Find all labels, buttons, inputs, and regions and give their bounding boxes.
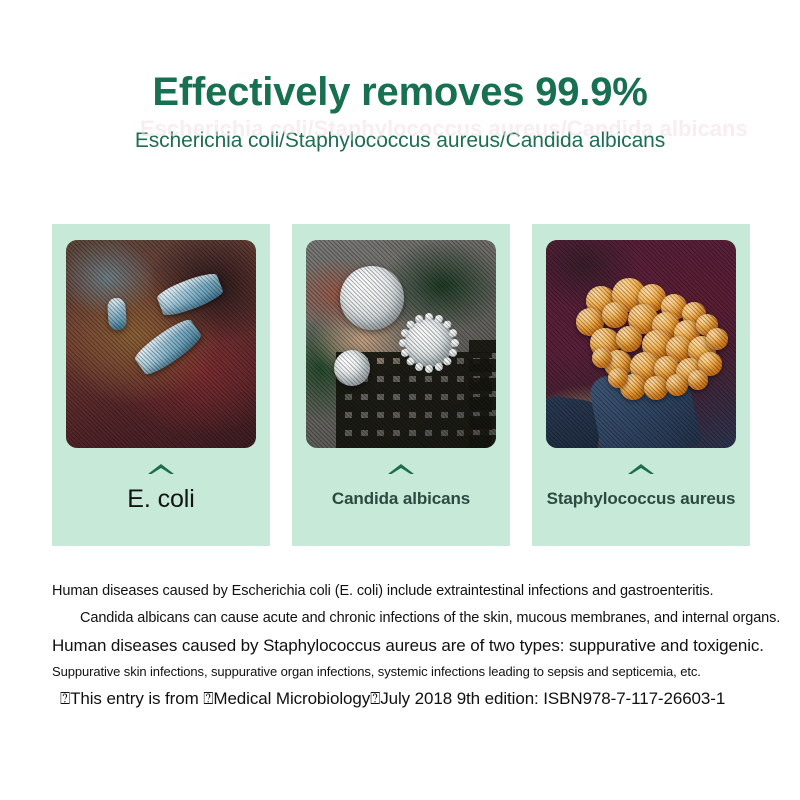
card-label-ecoli: E. coli <box>127 485 194 514</box>
candida-cell-spike <box>425 365 433 373</box>
ecoli-rod <box>132 315 205 379</box>
candida-spore <box>334 350 370 386</box>
laundry-basket-weave <box>469 340 496 448</box>
staph-coccus <box>602 302 628 328</box>
candida-cell-spike <box>435 363 443 371</box>
page-subtitle: Escherichia coli/Staphylococcus aureus/C… <box>0 129 800 153</box>
card-label-staph: Staphylococcus aureus <box>547 489 736 509</box>
note-line-staph-detail: Suppurative skin infections, suppurative… <box>52 665 768 678</box>
staph-coccus <box>666 374 688 396</box>
chevron-up-icon <box>386 462 416 476</box>
staph-coccus <box>644 376 668 400</box>
candida-spore <box>340 266 404 330</box>
organism-card-row: E. coli Candida albicans <box>52 224 750 546</box>
candida-spiky-cell <box>398 312 460 374</box>
candida-cell-spike <box>451 339 459 347</box>
card-label-candida: Candida albicans <box>332 489 470 509</box>
organism-image-staph <box>546 240 736 448</box>
organism-card-candida[interactable]: Candida albicans <box>292 224 510 546</box>
organism-card-staph[interactable]: Staphylococcus aureus <box>532 224 750 546</box>
candida-cell-spike <box>407 321 415 329</box>
candida-cell-spike <box>407 357 415 365</box>
organism-card-ecoli[interactable]: E. coli <box>52 224 270 546</box>
staph-coccus <box>608 368 628 388</box>
page-title: Effectively removes 99.9% <box>0 70 800 115</box>
candida-cell-spike <box>415 315 423 323</box>
note-line-ecoli: Human diseases caused by Escherichia col… <box>52 584 768 599</box>
candida-cell-spike <box>443 321 451 329</box>
candida-cell-spike <box>401 349 409 357</box>
staph-backdrop <box>546 240 736 448</box>
note-line-source: ⍰This entry is from ⍰Medical Microbiolog… <box>52 690 768 707</box>
staph-coccus <box>688 370 708 390</box>
candida-cell-spike <box>435 315 443 323</box>
chevron-up-icon <box>146 462 176 476</box>
staph-coccus <box>616 326 642 352</box>
candida-cell-spike <box>449 349 457 357</box>
ecoli-backdrop <box>66 240 256 448</box>
description-block: Human diseases caused by Escherichia col… <box>52 584 768 707</box>
candida-cell-spike <box>425 313 433 321</box>
organism-image-ecoli <box>66 240 256 448</box>
candida-backdrop <box>306 240 496 448</box>
ecoli-rod <box>155 269 225 319</box>
candida-cell-spike <box>449 329 457 337</box>
candida-cell-spike <box>401 329 409 337</box>
candida-cell-spike <box>399 339 407 347</box>
organism-image-candida <box>306 240 496 448</box>
candida-cell-spike <box>443 357 451 365</box>
staph-coccus <box>706 328 728 350</box>
staph-coccus <box>592 348 612 368</box>
chevron-up-icon <box>626 462 656 476</box>
candida-cell-spike <box>415 363 423 371</box>
header: Escherichia coli/Staphylococcus aureus/C… <box>0 70 800 153</box>
note-line-candida: Candida albicans can cause acute and chr… <box>52 611 768 626</box>
note-line-staph: Human diseases caused by Staphylococcus … <box>52 637 768 654</box>
ecoli-rod <box>107 297 127 330</box>
promo-page: Escherichia coli/Staphylococcus aureus/C… <box>0 0 800 800</box>
